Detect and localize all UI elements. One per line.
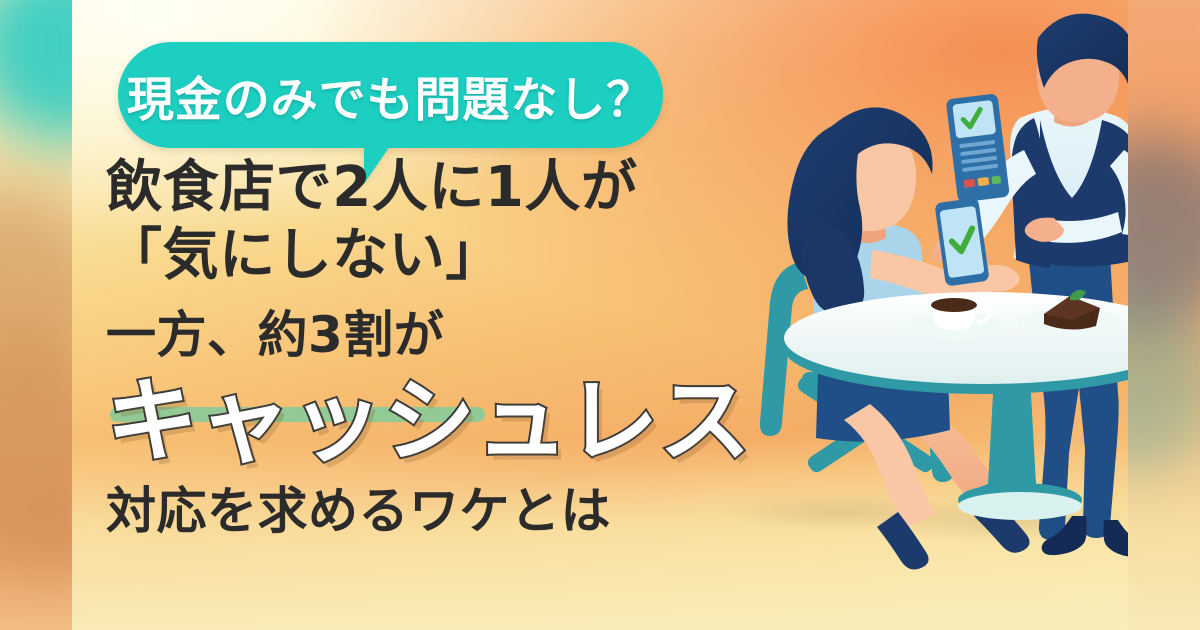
thumbnail-canvas: 現金のみでも問題なし？ 飲食店で2人に1人が 「気にしない」 一方、約3割が キ… xyxy=(0,0,1200,630)
coffee-liquid xyxy=(931,298,977,312)
headline-emphasis: キャッシュレス xyxy=(106,376,766,468)
headline-block: 飲食店で2人に1人が 「気にしない」 一方、約3割が キャッシュレス 対応を求め… xyxy=(106,160,766,536)
headline-line-5: 対応を求めるワケとは xyxy=(106,486,766,536)
card-reader xyxy=(946,93,1010,203)
headline-line-1: 飲食店で2人に1人が xyxy=(106,160,766,216)
cafe-illustration xyxy=(672,0,1128,630)
headline-line-3: 一方、約3割が xyxy=(106,310,766,360)
speech-bubble: 現金のみでも問題なし？ xyxy=(118,42,663,148)
speech-bubble-text: 現金のみでも問題なし？ xyxy=(118,42,663,148)
main-artboard: 現金のみでも問題なし？ 飲食店で2人に1人が 「気にしない」 一方、約3割が キ… xyxy=(72,0,1128,630)
headline-line-2: 「気にしない」 xyxy=(106,228,766,284)
table-base-rim xyxy=(958,492,1082,520)
headline-line-2-text: 「気にしない」 xyxy=(106,223,502,288)
